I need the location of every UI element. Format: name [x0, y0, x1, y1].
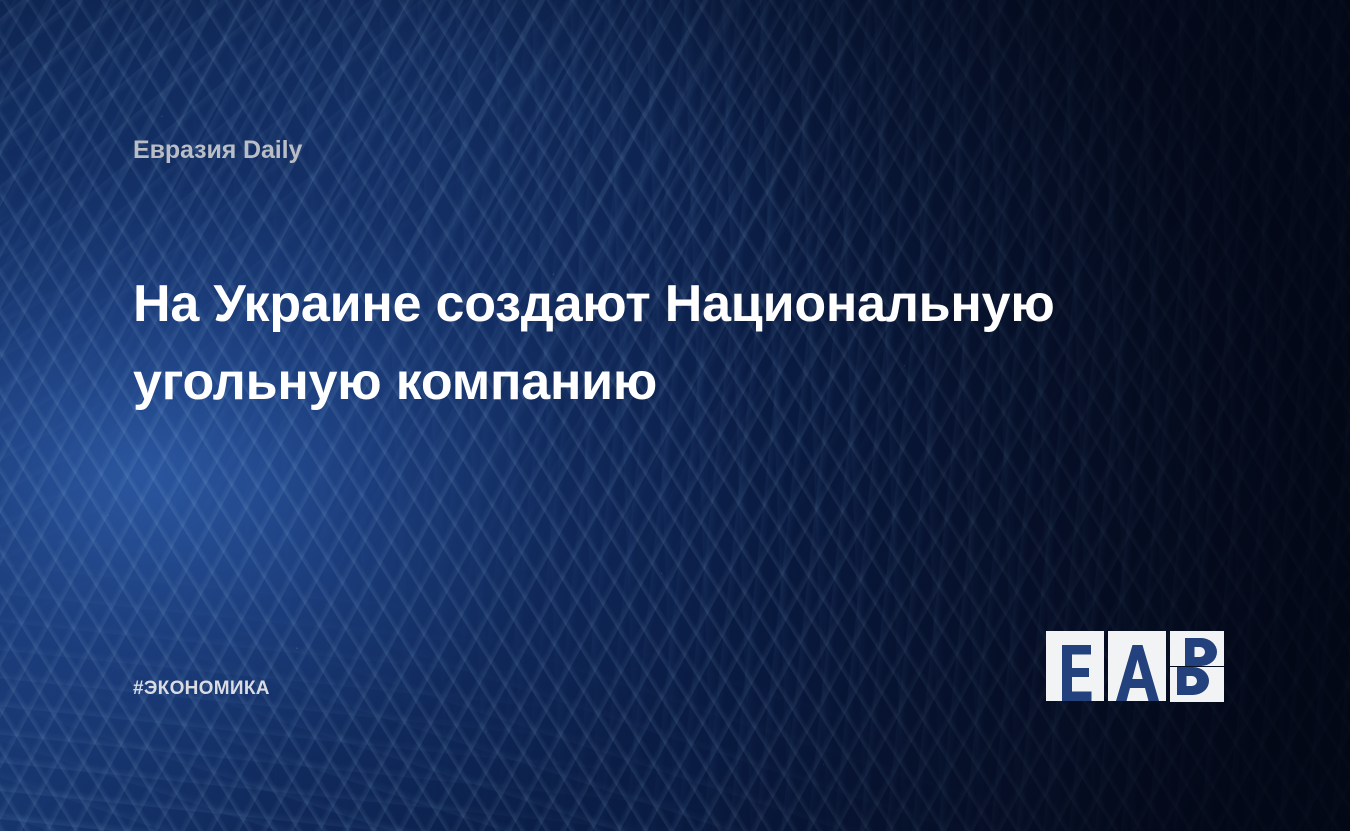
card-content: Евразия Daily На Украине создают Национа…	[0, 0, 1350, 831]
publication-brand: Евразия Daily	[133, 136, 302, 165]
social-share-card: Евразия Daily На Украине создают Национа…	[0, 0, 1350, 831]
logo-tile-e	[1046, 631, 1104, 701]
page-title: На Украине создают Национальную угольную…	[133, 265, 1123, 421]
logo-letter-e	[1062, 645, 1092, 701]
topic-hashtag: #ЭКОНОМИКА	[133, 678, 270, 700]
logo-tile-a	[1108, 631, 1166, 701]
ead-logo	[1046, 622, 1224, 710]
